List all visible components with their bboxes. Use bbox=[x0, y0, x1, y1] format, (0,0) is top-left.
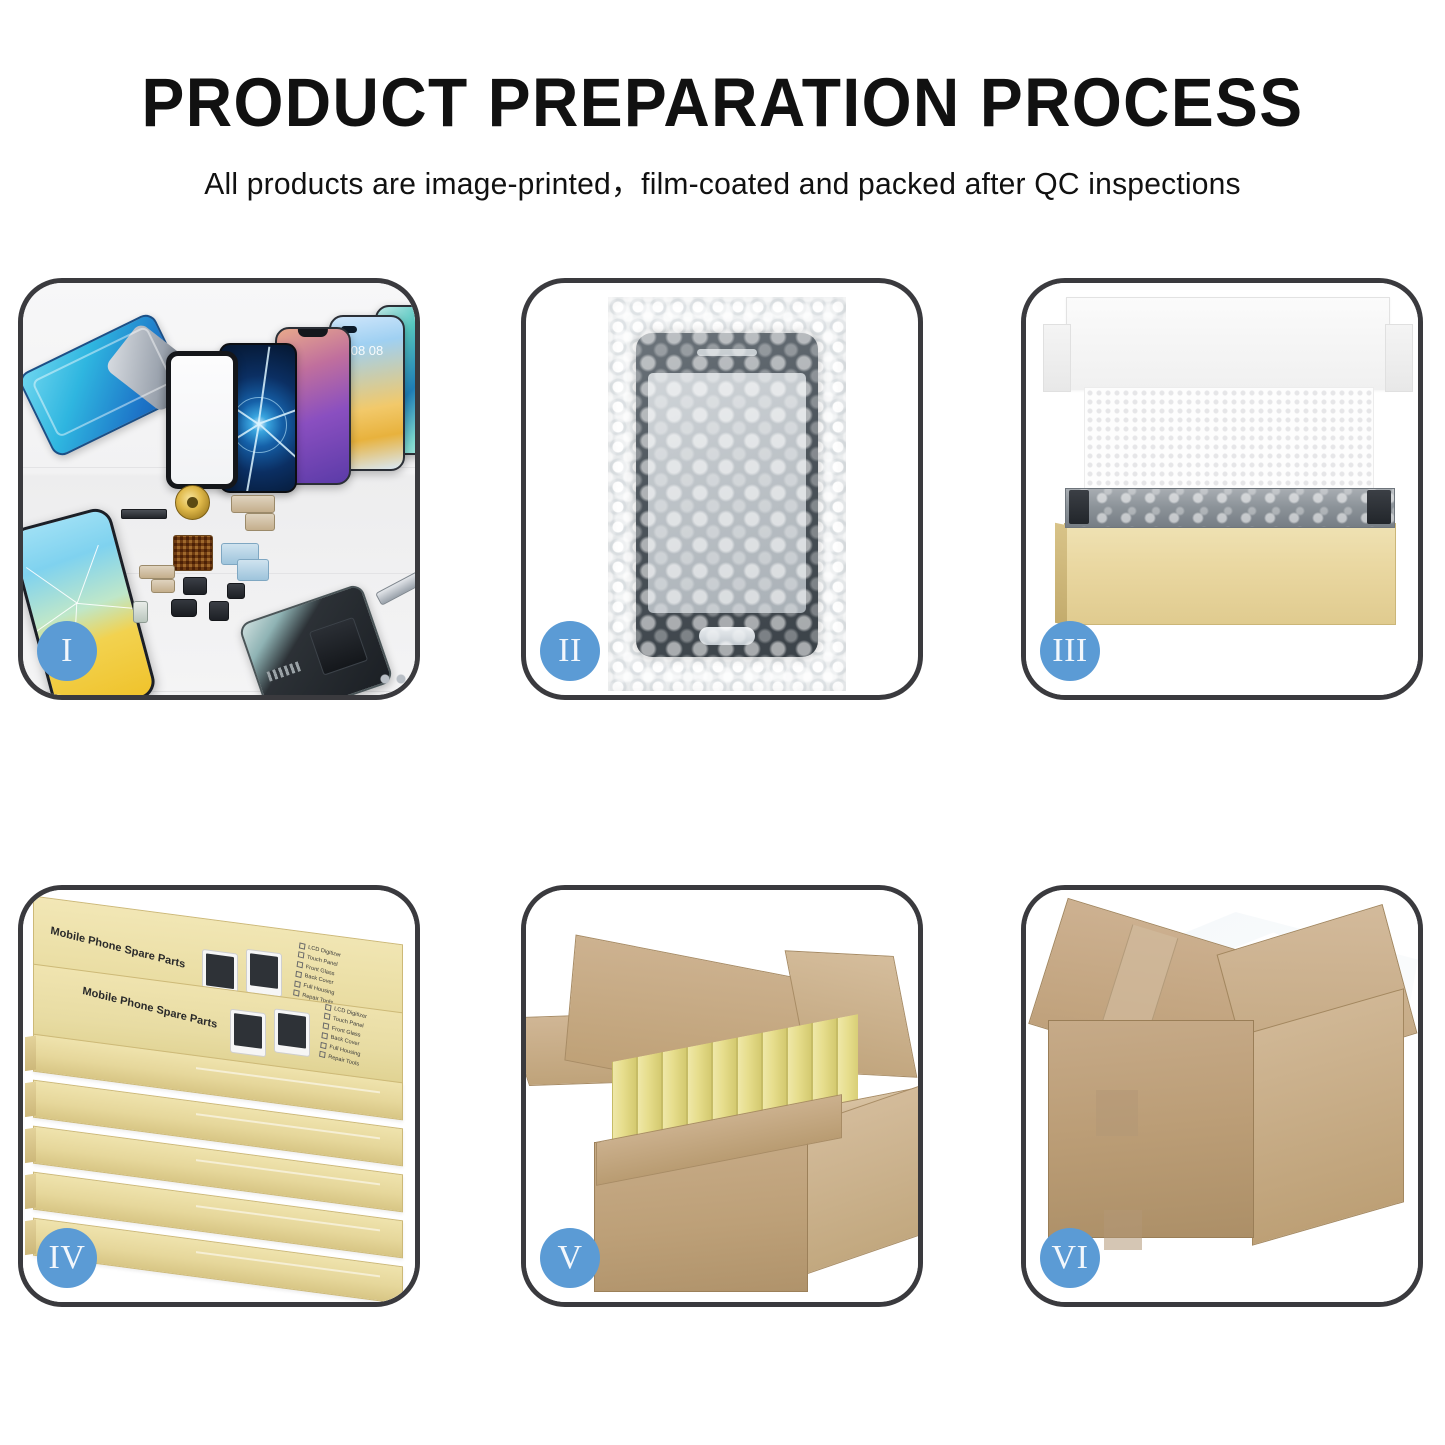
carton-side-panel bbox=[1252, 988, 1404, 1246]
box-product-photo bbox=[246, 949, 282, 998]
page-subtitle: All products are image-printed，film-coat… bbox=[11, 137, 1434, 203]
screen-right-cap bbox=[1367, 490, 1391, 524]
box-lid-flap bbox=[1066, 297, 1390, 390]
front-glass-image bbox=[166, 351, 238, 489]
box-seam bbox=[196, 1205, 380, 1231]
notch bbox=[298, 329, 328, 337]
screws-image bbox=[379, 671, 415, 687]
gold-box-tray bbox=[1064, 523, 1396, 625]
step-panel-4[interactable]: Mobile Phone Spare Parts LCD Digitizer T… bbox=[18, 885, 420, 1307]
box-brand-label: Mobile Phone Spare Parts bbox=[82, 985, 218, 1031]
infographic-root: PRODUCT PREPARATION PROCESS All products… bbox=[0, 0, 1445, 1445]
small-module-part bbox=[227, 583, 245, 599]
process-row-1: 08 08 bbox=[0, 278, 1445, 700]
connector-strip bbox=[267, 661, 301, 681]
flex-cable-part bbox=[139, 565, 175, 579]
flex-cable-part bbox=[231, 495, 275, 513]
home-button bbox=[699, 627, 755, 645]
step-panel-5[interactable]: V bbox=[521, 885, 923, 1307]
box-side bbox=[25, 1173, 36, 1209]
carton-front-panel bbox=[1048, 1020, 1254, 1238]
step-panel-6[interactable]: VI bbox=[1021, 885, 1423, 1307]
taptic-engine-part bbox=[171, 599, 197, 617]
box-left-edge bbox=[1055, 523, 1067, 626]
flex-cable-part bbox=[245, 513, 275, 531]
crack-line bbox=[77, 602, 139, 609]
battery-area bbox=[309, 617, 369, 676]
wrapped-screen-in-box bbox=[1065, 488, 1395, 528]
antenna-bar-part bbox=[121, 509, 167, 519]
box-product-photo bbox=[274, 1008, 310, 1057]
step-panel-2[interactable]: II bbox=[521, 278, 923, 700]
step-panel-1[interactable]: 08 08 bbox=[18, 278, 420, 700]
flex-cable-part bbox=[237, 559, 269, 581]
screen-left-cap bbox=[1069, 490, 1089, 524]
box-side bbox=[25, 1127, 36, 1163]
step-badge-5: V bbox=[540, 1228, 600, 1288]
box-side bbox=[25, 1081, 36, 1117]
header: PRODUCT PREPARATION PROCESS All products… bbox=[0, 0, 1445, 203]
page-title: PRODUCT PREPARATION PROCESS bbox=[51, 0, 1395, 137]
crack-line bbox=[26, 567, 78, 604]
process-row-2: Mobile Phone Spare Parts LCD Digitizer T… bbox=[0, 885, 1445, 1307]
tape-tab bbox=[1104, 1210, 1142, 1250]
box-seam bbox=[196, 1251, 380, 1277]
bubble-wrap-image bbox=[608, 297, 846, 691]
step-panel-3[interactable]: III bbox=[1021, 278, 1423, 700]
wrapped-screen bbox=[636, 333, 818, 657]
step-badge-4: IV bbox=[37, 1228, 97, 1288]
step-badge-1: I bbox=[37, 621, 97, 681]
speaker-coil-part bbox=[175, 485, 210, 520]
sim-tray-part bbox=[133, 601, 148, 623]
step-badge-3: III bbox=[1040, 621, 1100, 681]
box-seam bbox=[196, 1159, 380, 1185]
vibrator-part bbox=[209, 601, 229, 621]
box-side bbox=[25, 1035, 36, 1071]
box-brand-label: Mobile Phone Spare Parts bbox=[50, 925, 186, 971]
box-side bbox=[25, 1219, 36, 1255]
flex-cable-part bbox=[151, 579, 175, 593]
step-badge-2: II bbox=[540, 621, 600, 681]
step-badge-6: VI bbox=[1040, 1228, 1100, 1288]
box-product-photo bbox=[230, 1009, 266, 1058]
speaker-part bbox=[183, 577, 207, 595]
ic-chip-part bbox=[173, 535, 213, 571]
process-grid: 08 08 bbox=[0, 278, 1445, 1307]
tape-tab bbox=[1096, 1090, 1138, 1136]
box-checklist: LCD Digitizer Touch Panel Front Glass Ba… bbox=[319, 1003, 368, 1071]
earpiece-slot bbox=[697, 349, 757, 356]
box-seam bbox=[196, 1113, 380, 1139]
crack-line bbox=[76, 544, 99, 603]
